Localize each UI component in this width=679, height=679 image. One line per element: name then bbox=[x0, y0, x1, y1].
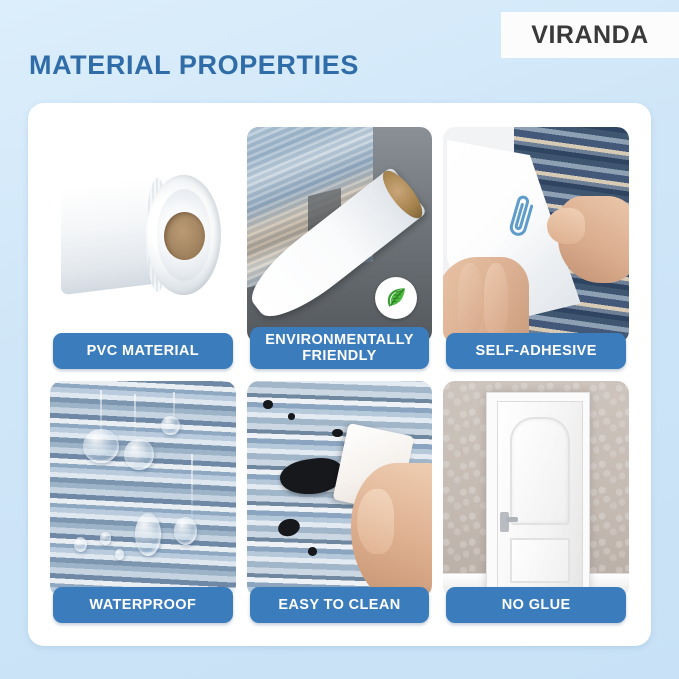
cleaning-hand bbox=[351, 463, 433, 597]
stain-mark bbox=[332, 429, 343, 438]
feature-card-self-adhesive: SELF-ADHESIVE bbox=[443, 127, 629, 369]
door-panel-top bbox=[510, 417, 570, 525]
water-droplet bbox=[83, 429, 118, 464]
stain-mark bbox=[308, 547, 317, 556]
left-hand bbox=[443, 257, 528, 343]
self-adhesive-image bbox=[443, 127, 629, 343]
feature-card-no-glue: NO GLUE bbox=[443, 381, 629, 623]
water-droplet bbox=[100, 532, 111, 545]
easy-to-clean-image bbox=[247, 381, 433, 597]
pvc-roll-illustration bbox=[61, 175, 224, 296]
page-title: MATERIAL PROPERTIES bbox=[29, 50, 359, 81]
feature-label-environmentally-friendly: ENVIRONMENTALLY FRIENDLY bbox=[250, 327, 430, 369]
feature-label-line2: FRIENDLY bbox=[302, 348, 376, 364]
stain-mark bbox=[263, 400, 272, 409]
feature-label-line1: ENVIRONMENTALLY bbox=[265, 332, 414, 348]
water-droplet bbox=[74, 537, 87, 552]
water-droplet bbox=[135, 513, 161, 556]
brand-logo: VIRANDA bbox=[501, 12, 679, 58]
feature-card-easy-to-clean: EASY TO CLEAN bbox=[247, 381, 433, 623]
feature-label-no-glue: NO GLUE bbox=[446, 587, 626, 623]
door-panel-bottom bbox=[510, 538, 570, 583]
features-panel: PVC MATERIAL bbox=[28, 103, 651, 646]
environment-image bbox=[247, 127, 433, 343]
water-droplet bbox=[174, 517, 196, 545]
brand-logo-text: VIRANDA bbox=[531, 21, 648, 50]
features-grid: PVC MATERIAL bbox=[50, 127, 629, 623]
water-droplet bbox=[124, 439, 154, 469]
water-droplet bbox=[115, 549, 124, 560]
feature-card-waterproof: WATERPROOF bbox=[50, 381, 236, 623]
door-handle bbox=[500, 512, 509, 533]
stain-mark bbox=[288, 413, 295, 419]
white-door bbox=[497, 401, 583, 590]
leaf-icon bbox=[375, 277, 417, 319]
feature-label-easy-to-clean: EASY TO CLEAN bbox=[250, 587, 430, 623]
no-glue-image bbox=[443, 381, 629, 597]
waterproof-image bbox=[50, 381, 236, 597]
pvc-roll-image bbox=[50, 127, 236, 343]
feature-label-pvc-material: PVC MATERIAL bbox=[53, 333, 233, 369]
feature-card-environmentally-friendly: ENVIRONMENTALLY FRIENDLY bbox=[247, 127, 433, 369]
feature-label-waterproof: WATERPROOF bbox=[53, 587, 233, 623]
water-droplet bbox=[161, 416, 180, 435]
water-trail bbox=[191, 454, 193, 527]
feature-card-pvc-material: PVC MATERIAL bbox=[50, 127, 236, 369]
stain-mark bbox=[276, 517, 302, 540]
door-frame bbox=[486, 392, 590, 591]
water-trail bbox=[134, 394, 136, 437]
roll-cardboard-core bbox=[164, 212, 205, 260]
feature-label-self-adhesive: SELF-ADHESIVE bbox=[446, 333, 626, 369]
